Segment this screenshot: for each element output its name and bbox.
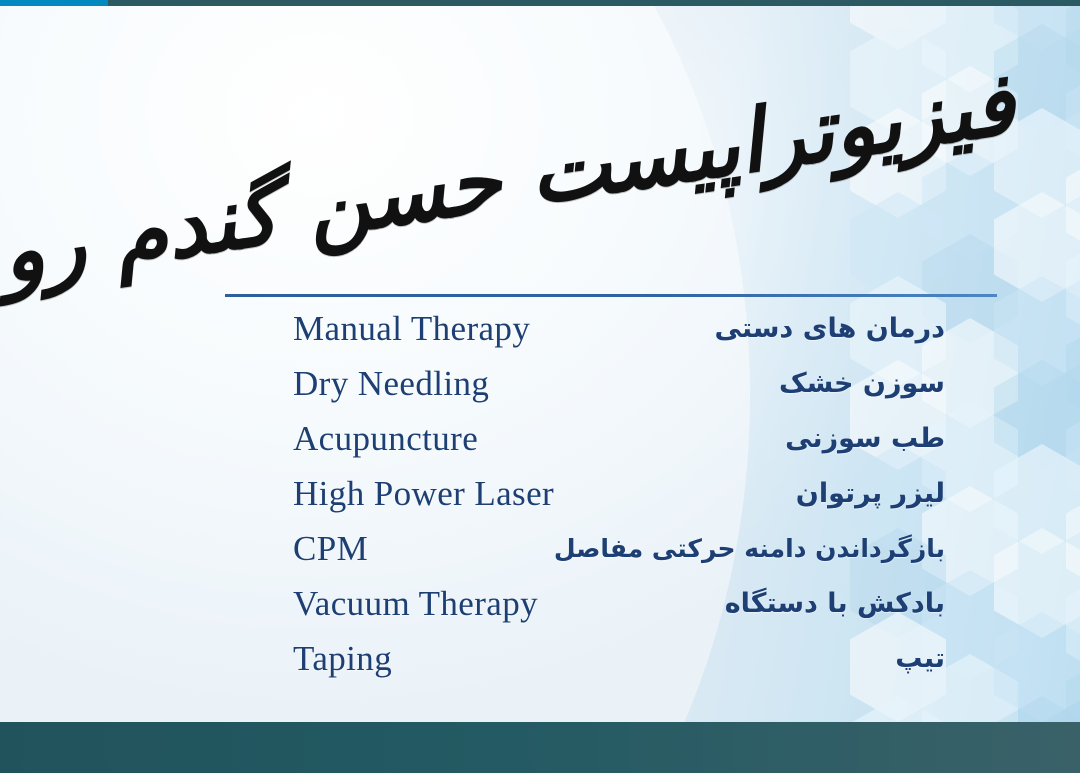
- service-name-fa: تیپ: [895, 635, 945, 683]
- service-row: Vacuum Therapy بادکش با دستگاه: [0, 580, 1080, 635]
- service-name-en: Dry Needling: [293, 360, 489, 408]
- bottom-accent-bar: [0, 722, 1080, 773]
- service-name-en: Manual Therapy: [293, 305, 530, 353]
- service-row: CPM بازگرداندن دامنه حرکتی مفاصل: [0, 525, 1080, 580]
- service-name-fa: سوزن خشک: [779, 360, 945, 408]
- service-name-en: Acupuncture: [293, 415, 478, 463]
- top-accent-strip-left: [0, 0, 108, 6]
- service-name-fa: طب سوزنی: [785, 415, 945, 463]
- service-name-en: Taping: [293, 635, 392, 683]
- services-list: Manual Therapy درمان های دستی Dry Needli…: [0, 305, 1080, 705]
- service-name-fa: بازگرداندن دامنه حرکتی مفاصل: [554, 525, 945, 573]
- service-row: High Power Laser لیزر پرتوان: [0, 470, 1080, 525]
- physiotherapy-services-poster: فیزیوتراپیست حسن گندم رو Manual Therapy …: [0, 0, 1080, 773]
- service-name-fa: درمان های دستی: [715, 305, 945, 353]
- service-name-fa: بادکش با دستگاه: [725, 580, 945, 628]
- service-name-en: CPM: [293, 525, 368, 573]
- service-name-en: Vacuum Therapy: [293, 580, 538, 628]
- service-name-en: High Power Laser: [293, 470, 554, 518]
- service-name-fa: لیزر پرتوان: [796, 470, 945, 518]
- title-divider: [225, 294, 997, 297]
- title-area: فیزیوتراپیست حسن گندم رو: [380, 18, 1020, 288]
- service-row: Dry Needling سوزن خشک: [0, 360, 1080, 415]
- service-row: Manual Therapy درمان های دستی: [0, 305, 1080, 360]
- top-accent-strip: [0, 0, 1080, 6]
- service-row: Acupuncture طب سوزنی: [0, 415, 1080, 470]
- service-row: Taping تیپ: [0, 635, 1080, 690]
